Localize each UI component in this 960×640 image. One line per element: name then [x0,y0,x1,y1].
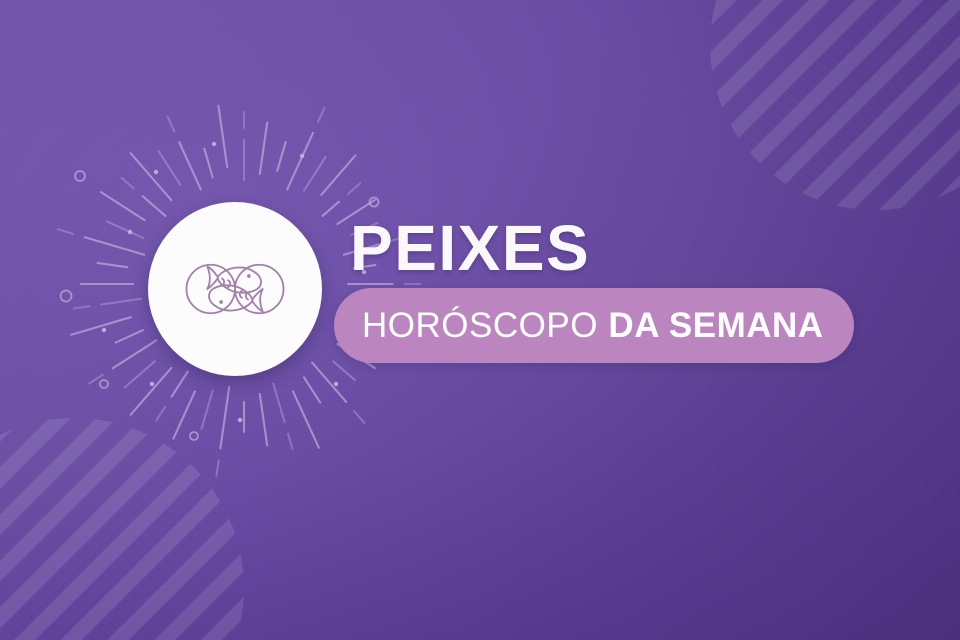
page-title: PEIXES [350,216,590,280]
horoscope-banner: PEIXES HORÓSCOPO DA SEMANA [0,0,960,640]
zodiac-emblem [148,202,322,376]
status-badge: HORÓSCOPO DA SEMANA [334,288,854,363]
pisces-two-fish-icon [183,237,287,341]
badge-label-light: HORÓSCOPO [362,308,598,343]
badge-label-bold: DA SEMANA [608,308,823,343]
